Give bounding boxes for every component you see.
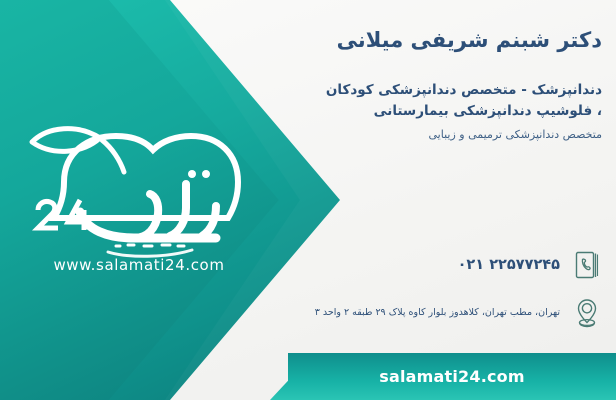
phone-number[interactable]: ۲۲۵۷۷۲۴۵ ۰۲۱ [254,257,560,273]
salamati-logo-graphic [16,112,266,262]
doctor-name: دکتر شبنم شریفی میلانی [256,26,602,54]
clinic-address: تهران، مطب تهران، کلاهدوز بلوار کاوه پلا… [254,306,560,320]
brand-logo: www.salamati24.com [16,112,266,272]
business-card: www.salamati24.com دکتر شبنم شریفی میلان… [0,0,616,400]
specialty-line-3: متخصص دندانپزشکی ترمیمی و زیبایی [256,126,602,145]
contact-info: ۲۲۵۷۷۲۴۵ ۰۲۱ تهران، مطب تهران، کلاهدوز ب… [254,246,604,342]
phone-book-icon [570,246,604,284]
footer-bar: salamati24.com [288,353,616,400]
logo-website-url: www.salamati24.com [24,256,254,274]
location-pin-icon [570,294,604,332]
card-content: دکتر شبنم شریفی میلانی دندانپزشک - متخصص… [256,26,602,145]
phone-row: ۲۲۵۷۷۲۴۵ ۰۲۱ [254,246,604,284]
specialty-line-2: ، فلوشیپ دندانپزشکی بیمارستانی [256,101,602,122]
footer-website[interactable]: salamati24.com [379,367,525,386]
specialty-line-1: دندانپزشک - متخصص دندانپزشکی کودکان [256,80,602,101]
address-row: تهران، مطب تهران، کلاهدوز بلوار کاوه پلا… [254,294,604,332]
